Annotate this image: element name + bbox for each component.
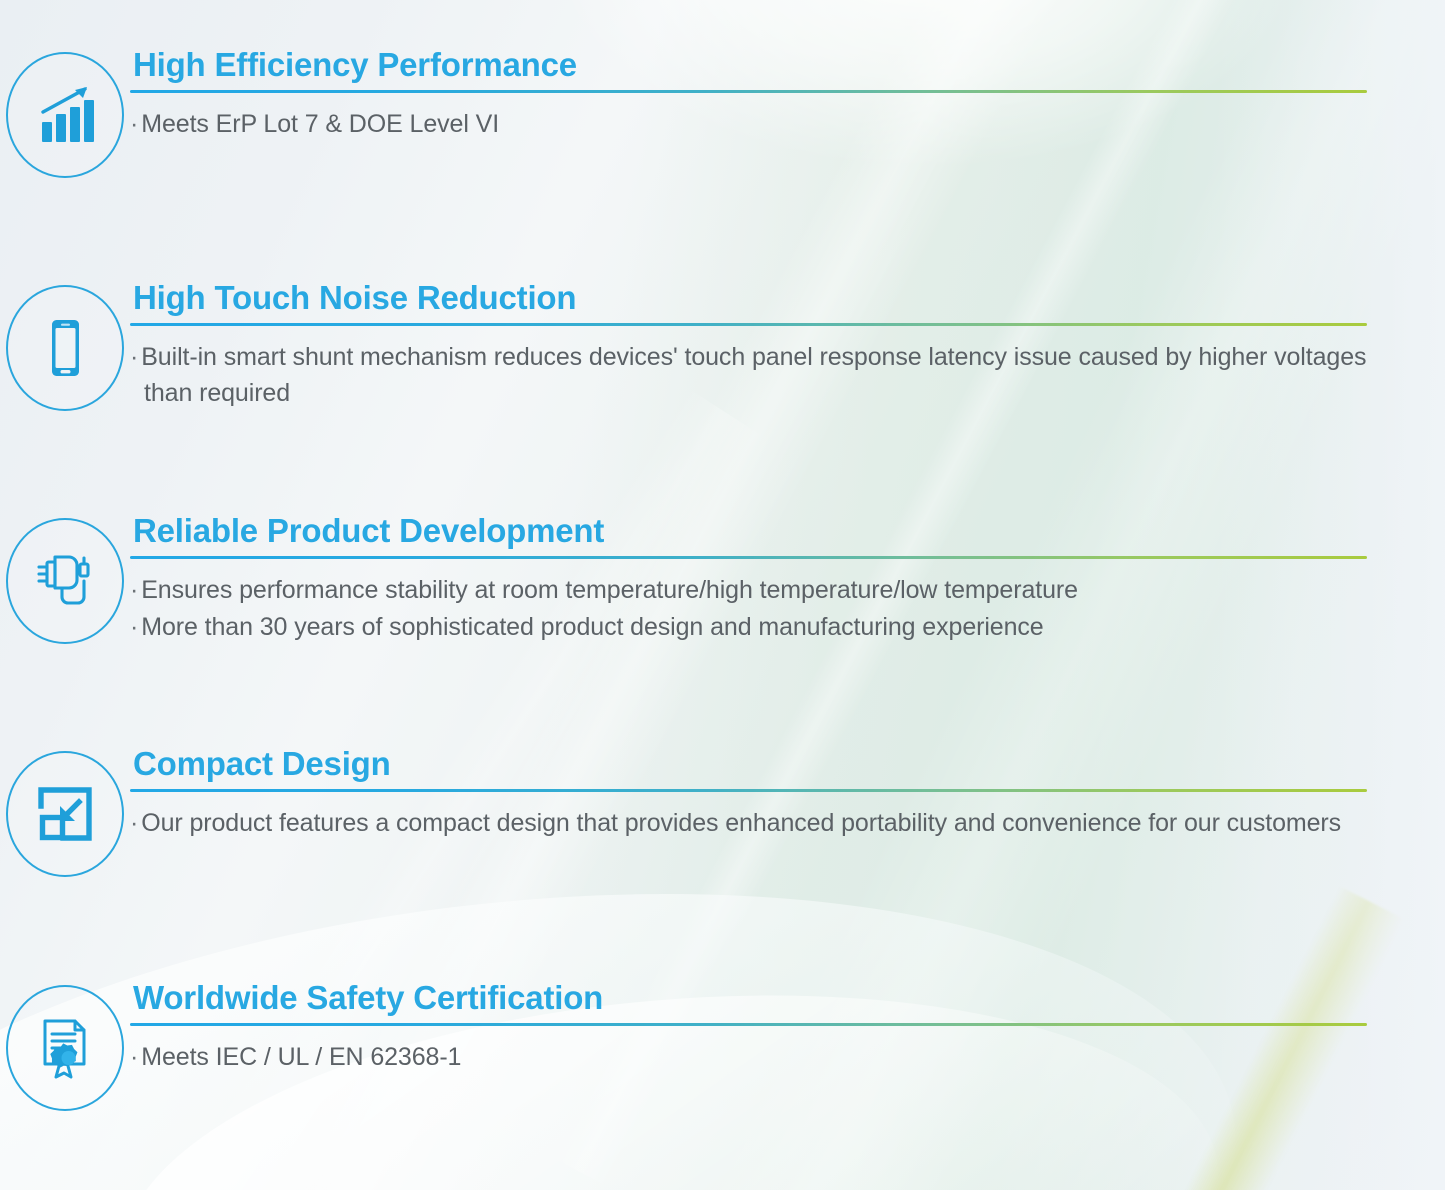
bullet-marker: · xyxy=(130,1043,141,1071)
feature-bullet-list: ·Built-in smart shunt mechanism reduces … xyxy=(130,339,1367,413)
feature-title: High Touch Noise Reduction xyxy=(133,281,1367,316)
feature-text-block: Reliable Product Development ·Ensures pe… xyxy=(130,514,1445,647)
bullet-text: More than 30 years of sophisticated prod… xyxy=(141,613,1043,641)
feature-bullet-list: ·Our product features a compact design t… xyxy=(130,805,1367,842)
feature-title: Reliable Product Development xyxy=(133,514,1367,549)
bullet-marker: · xyxy=(130,613,141,641)
feature-text-block: High Touch Noise Reduction ·Built-in sma… xyxy=(130,281,1445,413)
feature-text-block: Worldwide Safety Certification ·Meets IE… xyxy=(130,981,1445,1076)
feature-divider xyxy=(130,323,1367,326)
feature-bullet-list: ·Ensures performance stability at room t… xyxy=(130,572,1367,647)
bullet-text: Our product features a compact design th… xyxy=(141,809,1341,837)
feature-icon-container xyxy=(0,747,130,877)
feature-title: High Efficiency Performance xyxy=(133,48,1367,83)
feature-bullet: ·Our product features a compact design t… xyxy=(130,805,1367,842)
feature-divider xyxy=(130,556,1367,559)
bullet-marker: · xyxy=(130,576,141,604)
bullet-text: Ensures performance stability at room te… xyxy=(141,576,1078,604)
bullet-marker: · xyxy=(130,809,141,837)
feature-bullet-list: ·Meets ErP Lot 7 & DOE Level VI xyxy=(130,106,1367,143)
feature-highlights-page: High Efficiency Performance ·Meets ErP L… xyxy=(0,0,1445,1190)
bullet-marker: · xyxy=(130,343,141,371)
compact-resize-icon xyxy=(6,751,124,877)
feature-text-block: High Efficiency Performance ·Meets ErP L… xyxy=(130,48,1445,143)
feature-bullet: ·More than 30 years of sophisticated pro… xyxy=(130,609,1367,646)
smartphone-icon xyxy=(6,285,124,411)
feature-row-high-touch-noise-reduction: High Touch Noise Reduction ·Built-in sma… xyxy=(0,281,1445,413)
feature-icon-container xyxy=(0,514,130,644)
feature-icon-container xyxy=(0,48,130,178)
power-adapter-icon xyxy=(6,518,124,644)
bullet-marker: · xyxy=(130,110,141,138)
feature-row-compact-design: Compact Design ·Our product features a c… xyxy=(0,747,1445,877)
feature-list: High Efficiency Performance ·Meets ErP L… xyxy=(0,0,1445,1190)
feature-title: Worldwide Safety Certification xyxy=(133,981,1367,1016)
feature-bullet: ·Meets ErP Lot 7 & DOE Level VI xyxy=(130,106,1367,143)
feature-row-high-efficiency-performance: High Efficiency Performance ·Meets ErP L… xyxy=(0,48,1445,178)
feature-icon-container xyxy=(0,981,130,1111)
bullet-text: Meets ErP Lot 7 & DOE Level VI xyxy=(141,110,499,138)
feature-bullet: ·Ensures performance stability at room t… xyxy=(130,572,1367,609)
feature-row-worldwide-safety-certification: Worldwide Safety Certification ·Meets IE… xyxy=(0,981,1445,1111)
feature-bullet-list: ·Meets IEC / UL / EN 62368-1 xyxy=(130,1039,1367,1076)
feature-divider xyxy=(130,1023,1367,1026)
feature-title: Compact Design xyxy=(133,747,1367,782)
bullet-text: Built-in smart shunt mechanism reduces d… xyxy=(141,343,1366,408)
feature-divider xyxy=(130,90,1367,93)
certificate-seal-icon xyxy=(6,985,124,1111)
bullet-text: Meets IEC / UL / EN 62368-1 xyxy=(141,1043,461,1071)
bar-chart-growth-icon xyxy=(6,52,124,178)
feature-text-block: Compact Design ·Our product features a c… xyxy=(130,747,1445,842)
feature-icon-container xyxy=(0,281,130,411)
feature-divider xyxy=(130,789,1367,792)
feature-row-reliable-product-development: Reliable Product Development ·Ensures pe… xyxy=(0,514,1445,647)
feature-bullet: ·Meets IEC / UL / EN 62368-1 xyxy=(130,1039,1367,1076)
feature-bullet: ·Built-in smart shunt mechanism reduces … xyxy=(130,339,1367,413)
